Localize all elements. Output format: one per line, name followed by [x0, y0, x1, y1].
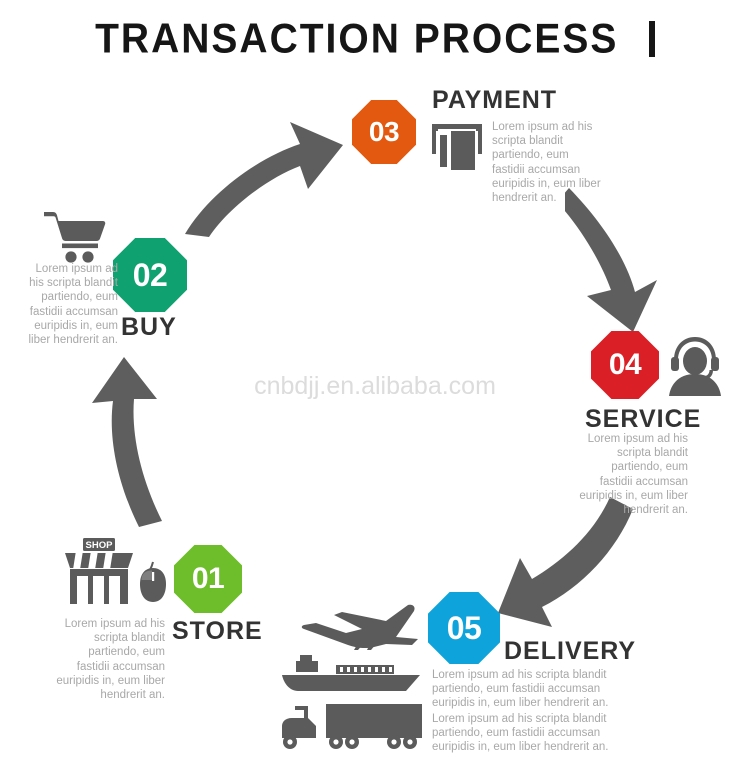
shopping-cart-icon: [40, 208, 106, 264]
shop-storefront-icon: SHOP: [63, 538, 135, 604]
step-number-04: 04: [609, 350, 641, 380]
step-title-payment: PAYMENT: [432, 86, 557, 115]
step-title-service: SERVICE: [585, 405, 701, 434]
step-badge-03[interactable]: 03: [352, 100, 416, 164]
step-number-02: 02: [133, 259, 168, 291]
title-accent-bar: [649, 21, 655, 57]
arrow-buy-to-payment: [150, 112, 365, 237]
step-body-buy: Lorem ipsum ad his scripta blandit parti…: [20, 262, 118, 347]
step-title-store: STORE: [172, 617, 263, 646]
truck-icon: [282, 700, 426, 750]
step-number-05: 05: [447, 612, 482, 644]
step-badge-02[interactable]: 02: [113, 238, 187, 312]
step-body-store: Lorem ipsum ad his scripta blandit parti…: [53, 617, 165, 702]
step-badge-01[interactable]: 01: [174, 545, 242, 613]
step-number-03: 03: [369, 118, 399, 146]
step-number-01: 01: [192, 564, 224, 594]
page-title-text: TRANSACTION PROCESS: [95, 17, 618, 64]
step-badge-04[interactable]: 04: [591, 331, 659, 399]
infographic-canvas: TRANSACTION PROCESS cnbdjj.en.alibaba.co…: [0, 0, 750, 777]
step-body-payment: Lorem ipsum ad his scripta blandit parti…: [492, 120, 602, 205]
airplane-icon: [300, 603, 424, 651]
headset-operator-icon: [665, 334, 727, 396]
arrow-store-to-buy: [82, 355, 172, 530]
cargo-ship-icon: [280, 655, 422, 695]
computer-mouse-icon: [138, 560, 168, 604]
step-body-service: Lorem ipsum ad his scripta blandit parti…: [576, 432, 688, 517]
svg-text:SHOP: SHOP: [86, 540, 114, 551]
step-title-delivery: DELIVERY: [504, 637, 636, 666]
page-title: TRANSACTION PROCESS: [0, 18, 750, 62]
atm-card-slot-icon: [428, 118, 486, 176]
step-body-delivery: Lorem ipsum ad his scripta blandit parti…: [432, 668, 628, 711]
step-title-buy: BUY: [121, 313, 177, 342]
step-body-delivery-2: Lorem ipsum ad his scripta blandit parti…: [432, 712, 628, 755]
